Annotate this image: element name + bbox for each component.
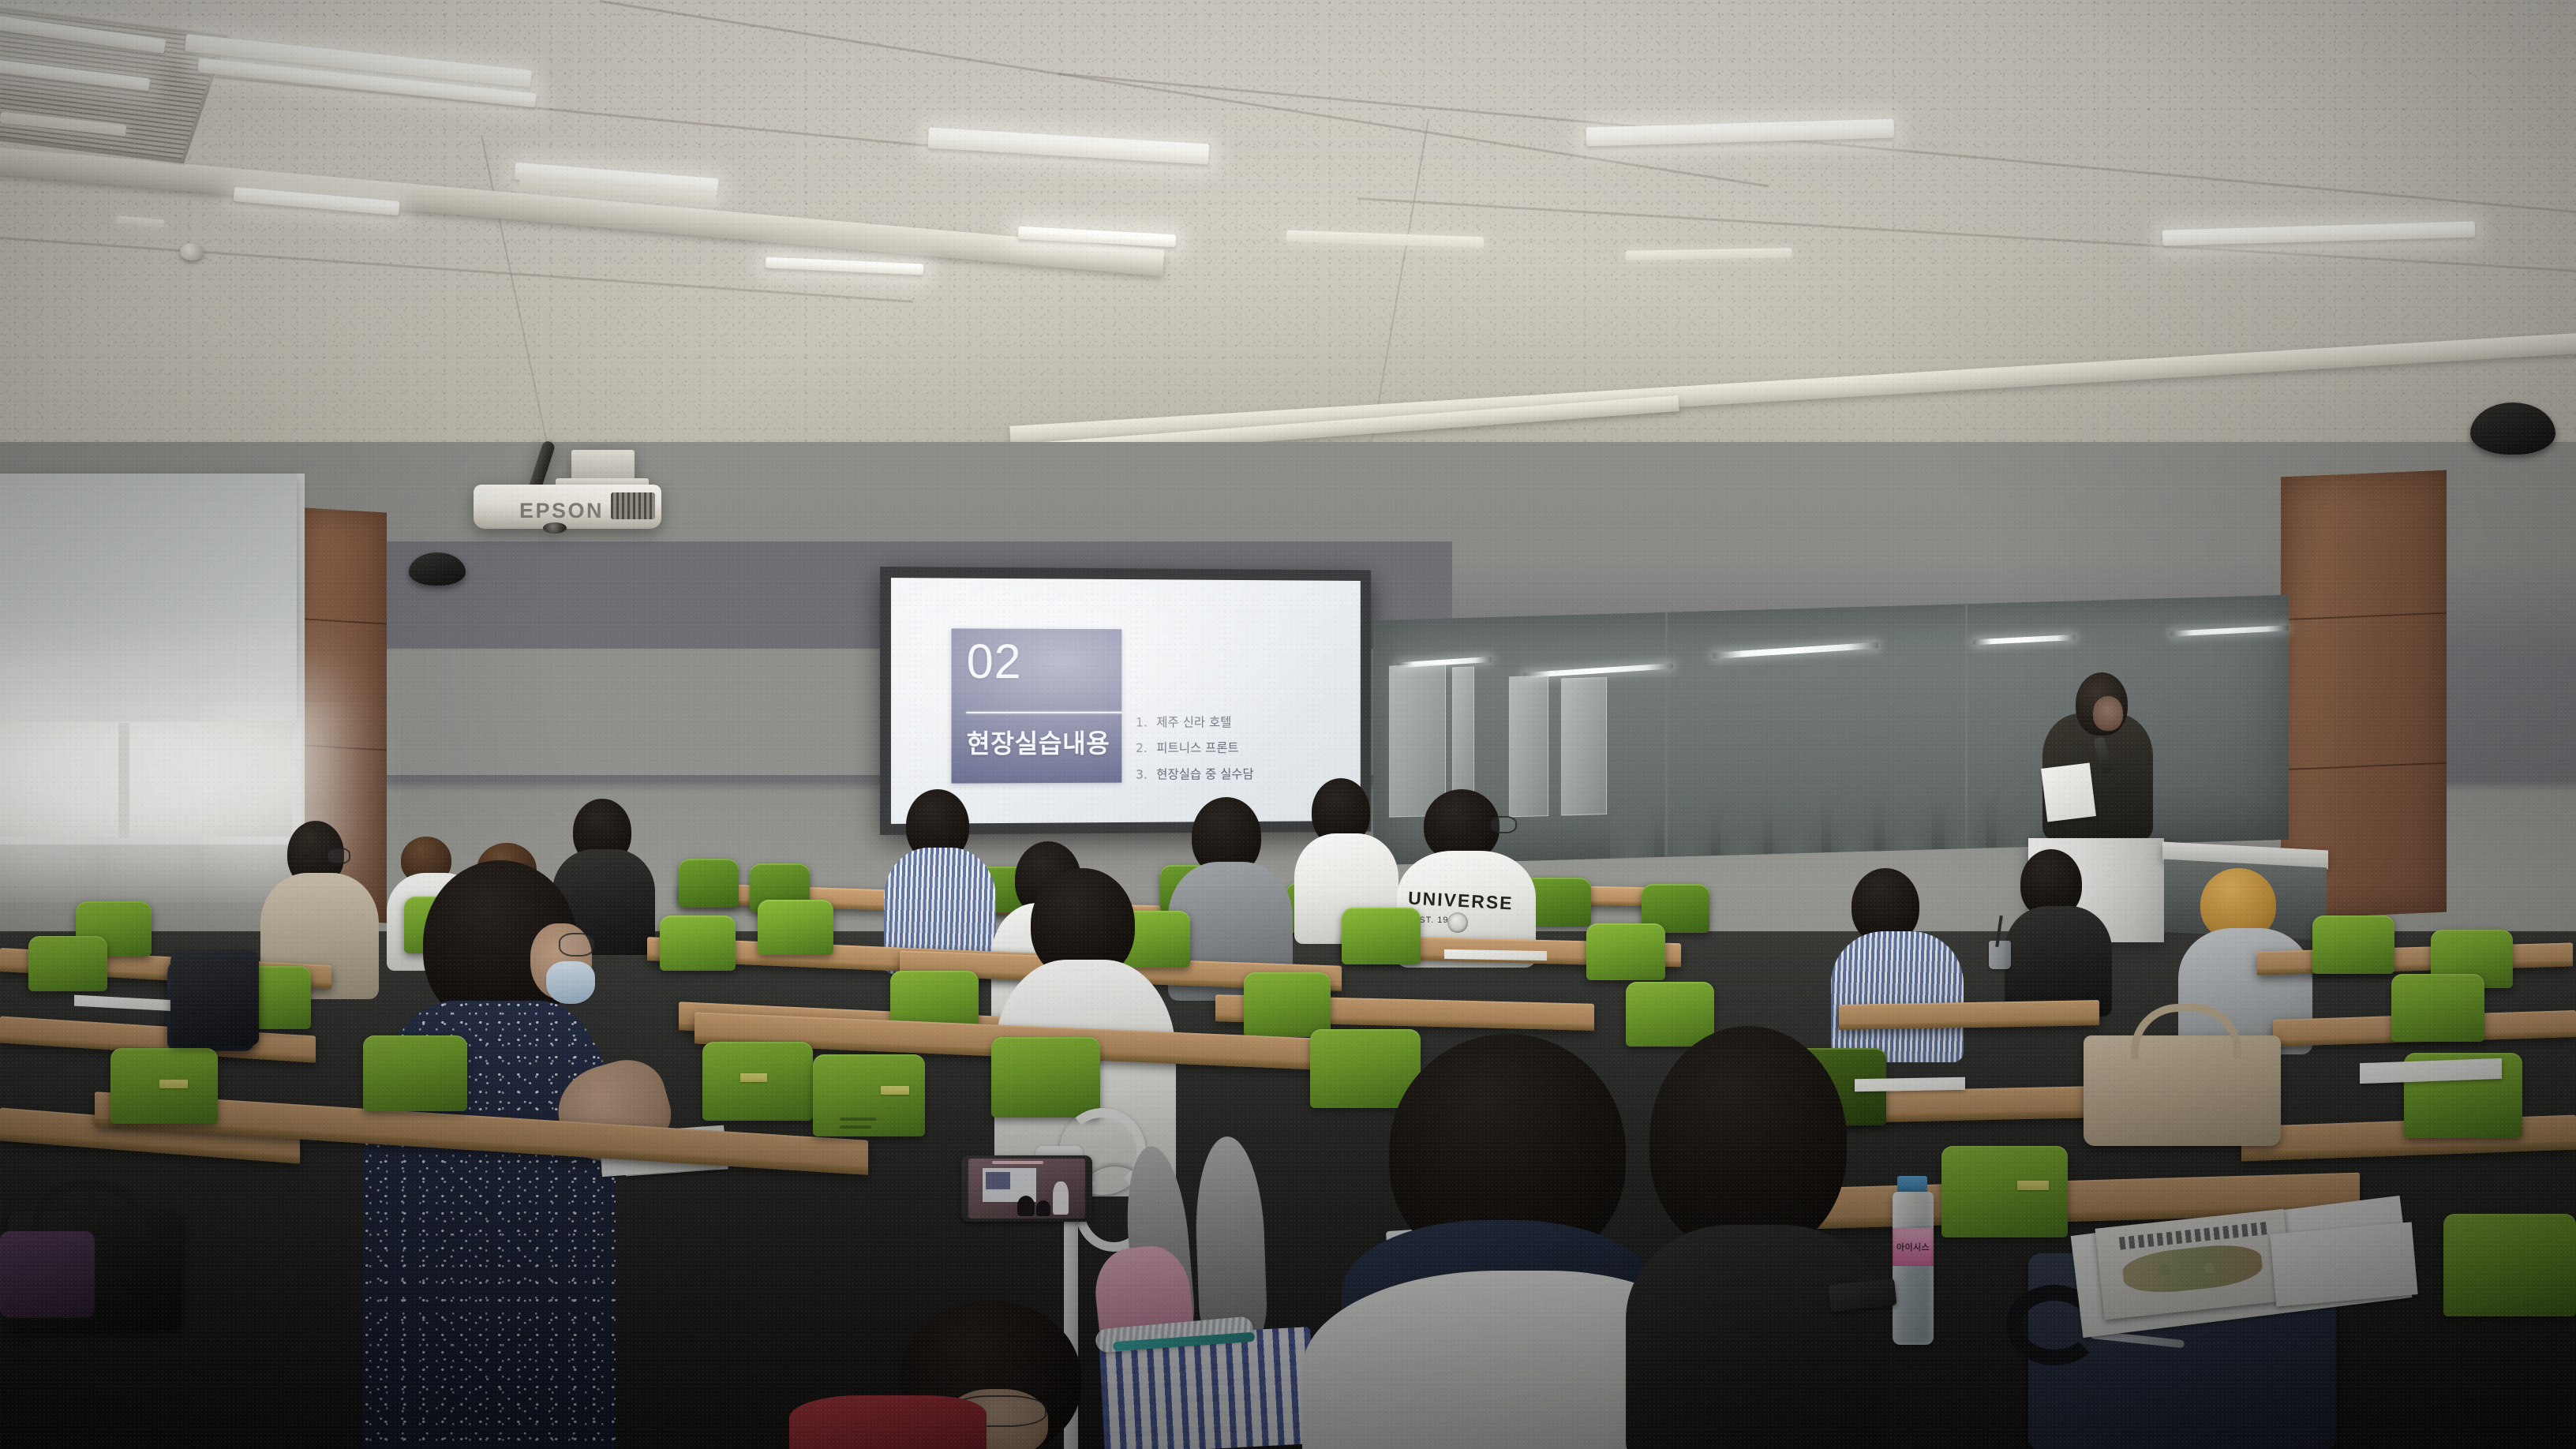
glasses-icon xyxy=(559,933,595,957)
phone-preview-presenter xyxy=(1053,1181,1069,1215)
chair xyxy=(2391,974,2484,1042)
face-mask xyxy=(546,961,595,1004)
book-cover-title xyxy=(2119,1222,2271,1250)
slide-divider-rule xyxy=(967,712,1122,713)
water-bottle[interactable] xyxy=(1893,1192,1934,1345)
window-mullion xyxy=(118,723,129,838)
purple-pouch xyxy=(0,1231,95,1318)
smoke-detector-icon xyxy=(180,243,204,260)
ceiling-speaker-icon xyxy=(409,552,466,586)
ceiling-projector: EPSON xyxy=(474,436,671,537)
chair-asset-tag xyxy=(159,1080,188,1088)
presenter-notes xyxy=(2041,762,2096,822)
presenter-face xyxy=(2093,696,2123,731)
chair xyxy=(28,936,107,991)
list-item-label: 제주 신라 호텔 xyxy=(1156,715,1231,728)
phone-preview-audience xyxy=(1036,1200,1050,1216)
glass-reflection-light xyxy=(1713,642,1878,659)
glass-reflection-light xyxy=(1973,635,2076,645)
book-cover-illustration xyxy=(2121,1241,2264,1297)
water-bottle-group: 아이시스 xyxy=(1883,1176,1946,1350)
soccer-ball-icon xyxy=(1447,912,1468,933)
glasses-icon xyxy=(1490,816,1517,833)
tshirt-graphic-text: UNIVERSE xyxy=(1407,888,1514,915)
projector-lens xyxy=(543,522,567,534)
window-daylight xyxy=(0,721,292,837)
student xyxy=(2005,849,2107,1007)
glass-reflection-crowd xyxy=(1720,802,1763,856)
chair xyxy=(679,859,739,908)
bottle-cap xyxy=(1897,1176,1927,1193)
list-item: 1. 제주 신라 호텔 xyxy=(1136,715,1342,729)
chair xyxy=(2312,915,2394,974)
student-torso xyxy=(1626,1225,1886,1449)
glass-reflection-light xyxy=(2170,625,2289,636)
glass-reflection-crowd xyxy=(1610,802,1654,859)
chair-asset-tag xyxy=(881,1086,909,1095)
chair xyxy=(758,900,833,955)
glass-reflection-crowd xyxy=(1831,794,1874,852)
chair xyxy=(1244,972,1331,1037)
student-foreground-left xyxy=(789,1294,1152,1449)
window-roller-blind xyxy=(0,474,297,723)
chair-asset-tag xyxy=(740,1073,767,1082)
list-item-label: 피트니스 프론트 xyxy=(1156,741,1238,755)
slide-number: 02 xyxy=(967,638,1022,687)
student xyxy=(884,789,994,971)
slide-number-block: 02 현장실습내용 xyxy=(951,628,1121,783)
presentation-slide: 02 현장실습내용 1. 제주 신라 호텔 2. 피트니스 프론트 3. 현장실… xyxy=(891,578,1361,824)
phone-preview-audience xyxy=(1017,1196,1035,1216)
list-item-index: 2. xyxy=(1136,742,1148,755)
ceiling xyxy=(0,0,2576,505)
list-item-label: 현장실습 중 실수담 xyxy=(1156,767,1253,781)
list-item-index: 3. xyxy=(1136,768,1148,781)
list-item-index: 1. xyxy=(1136,715,1148,728)
projector-vent-grille xyxy=(611,492,655,519)
bottle-brand-text: 아이시스 xyxy=(1896,1241,1930,1253)
smartphone-screen[interactable] xyxy=(968,1159,1085,1219)
chair xyxy=(813,1054,925,1136)
glass-reflection-window xyxy=(1561,677,1607,816)
glass-reflection-crowd xyxy=(1773,781,1822,854)
chair-asset-tag xyxy=(2017,1181,2049,1190)
papers xyxy=(1444,949,1547,960)
phone-preview-number-block xyxy=(986,1172,1010,1189)
bottle-label: 아이시스 xyxy=(1893,1228,1934,1266)
chair xyxy=(2443,1214,2576,1316)
red-cloth xyxy=(789,1395,987,1449)
chair xyxy=(1342,908,1421,964)
student-head xyxy=(1649,1026,1847,1255)
slide-title: 현장실습내용 xyxy=(967,722,1117,760)
drink-cup xyxy=(1989,941,2011,969)
projector-brand-label: EPSON xyxy=(519,499,604,523)
chair xyxy=(363,1035,467,1111)
chair xyxy=(1941,1146,2068,1237)
shoulder-bag xyxy=(170,950,259,1045)
lecture-hall-photo: EPSON 02 현장실습내용 1. 제주 신라 호텔 2. 피트니스 프론트 xyxy=(0,0,2576,1449)
papers-on-desk xyxy=(1855,1077,1965,1091)
list-item: 2. 피트니스 프론트 xyxy=(1136,741,1342,755)
glass-reflection-crowd xyxy=(1664,791,1711,857)
chair xyxy=(702,1042,813,1121)
smartphone[interactable] xyxy=(961,1155,1092,1222)
chair xyxy=(110,1048,218,1124)
projector-body: EPSON xyxy=(474,485,661,529)
loose-papers xyxy=(2270,1222,2417,1306)
chair xyxy=(1586,923,1665,980)
phone-preview-ceiling-light xyxy=(992,1161,1043,1164)
student-foreground-right xyxy=(1626,1026,1886,1449)
glass-reflection-crowd xyxy=(1885,781,1932,851)
